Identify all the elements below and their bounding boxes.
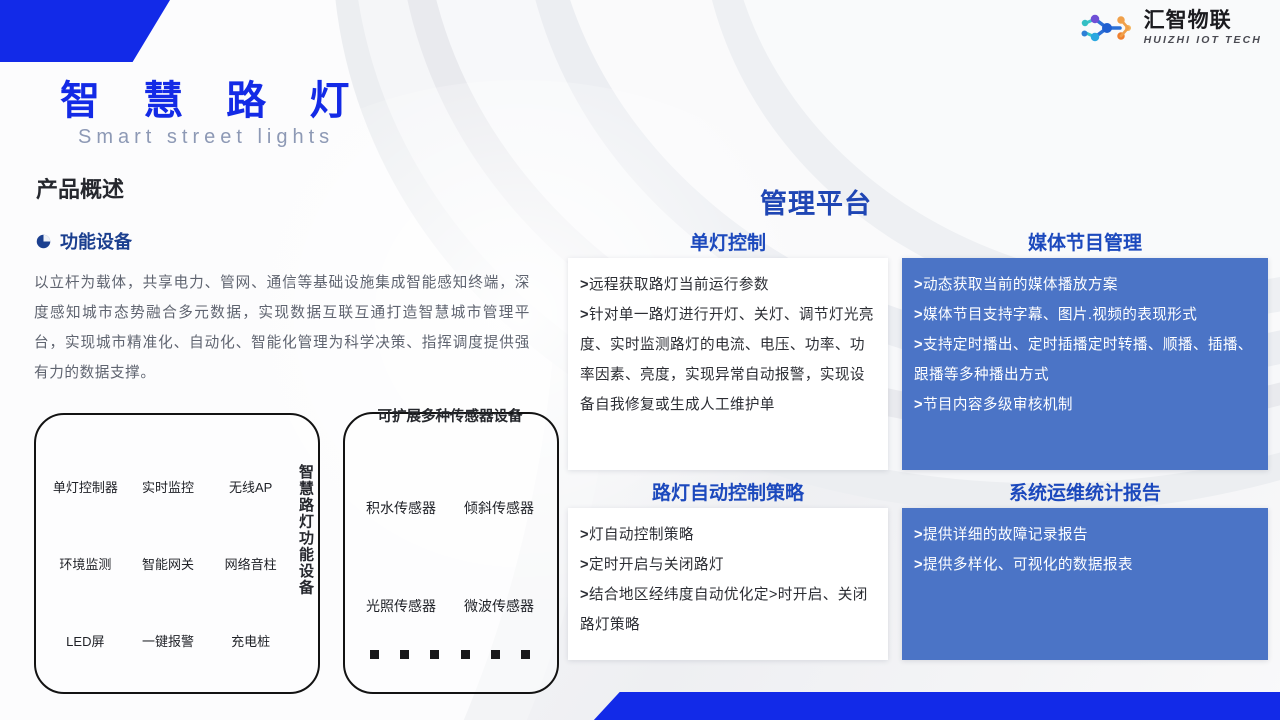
bullet-marker: > [580, 587, 589, 603]
page-title: 智 慧 路 灯 [60, 68, 365, 126]
card-bullet: >远程获取路灯当前运行参数 [580, 270, 878, 300]
sensor-dot [461, 650, 470, 659]
device-label: 无线AP [229, 477, 272, 496]
subsection-functional-devices: 功能设备 [36, 228, 132, 254]
bullet-marker: > [914, 337, 923, 353]
section-title-overview: 产品概述 [36, 172, 124, 204]
device-item: 实时监控 [127, 421, 210, 496]
card-bullet: >提供多样化、可视化的数据报表 [914, 550, 1258, 580]
device-label: 积水传感器 [366, 498, 436, 518]
card-heading-report: 系统运维统计报告 [902, 478, 1268, 505]
device-item: 智能网关 [127, 498, 210, 573]
bullet-marker: > [580, 307, 589, 323]
molecule-network-icon [1078, 8, 1136, 48]
device-item: 网络音柱 [209, 498, 292, 573]
device-item: 光照传感器 [352, 522, 450, 616]
subsection-label: 功能设备 [60, 228, 132, 254]
card-bullet: >节目内容多级审核机制 [914, 390, 1258, 420]
sensor-dot [491, 650, 500, 659]
bullet-marker: > [914, 527, 923, 543]
bullet-marker: > [914, 397, 923, 413]
device-label: 一键报警 [142, 631, 194, 650]
device-label: 环境监测 [59, 554, 111, 573]
card-bullet: >媒体节目支持字幕、图片.视频的表现形式 [914, 300, 1258, 330]
card-single-lamp: >远程获取路灯当前运行参数>针对单一路灯进行开灯、关灯、调节灯光亮度、实时监测路… [568, 258, 888, 470]
device-item: 单灯控制器 [44, 421, 127, 496]
brand-name-cn: 汇智物联 [1144, 10, 1262, 31]
card-media: >动态获取当前的媒体播放方案>媒体节目支持字幕、图片.视频的表现形式>支持定时播… [902, 258, 1268, 470]
card-auto-control: >灯自动控制策略>定时开启与关闭路灯>结合地区经纬度自动优化定>时开启、关闭路灯… [568, 508, 888, 660]
platform-title: 管理平台 [760, 182, 872, 221]
card-heading-single-lamp: 单灯控制 [568, 228, 888, 255]
bullet-marker: > [580, 527, 589, 543]
device-panel-sensors-title: 可扩展多种传感器设备 [352, 405, 548, 426]
device-label: 光照传感器 [366, 596, 436, 616]
device-label: 实时监控 [142, 477, 194, 496]
card-bullet: >结合地区经纬度自动优化定>时开启、关闭路灯策略 [580, 580, 878, 640]
bullet-marker: > [914, 557, 923, 573]
device-label: 单灯控制器 [53, 477, 118, 496]
device-label: LED屏 [66, 631, 104, 650]
brand-logo: 汇智物联 HUIZHI IOT TECH [1078, 8, 1262, 48]
card-bullet: >动态获取当前的媒体播放方案 [914, 270, 1258, 300]
device-label: 智能网关 [142, 554, 194, 573]
bullet-marker: > [914, 307, 923, 323]
card-bullet: >提供详细的故障记录报告 [914, 520, 1258, 550]
sensor-dot [400, 650, 409, 659]
device-item: LED屏 [44, 575, 127, 650]
device-item: 充电桩 [209, 575, 292, 650]
card-report: >提供详细的故障记录报告>提供多样化、可视化的数据报表 [902, 508, 1268, 660]
sensor-dot [430, 650, 439, 659]
device-label: 充电桩 [231, 631, 270, 650]
card-bullet: >灯自动控制策略 [580, 520, 878, 550]
pie-chart-icon [36, 234, 51, 249]
bullet-marker: > [914, 277, 923, 293]
card-bullet: >支持定时播出、定时插播定时转播、顺播、插播、跟播等多种播出方式 [914, 330, 1258, 390]
device-label: 网络音柱 [225, 554, 277, 573]
card-heading-auto-control: 路灯自动控制策略 [568, 478, 888, 505]
device-grid-sensors: 积水传感器倾斜传感器光照传感器微波传感器 [352, 424, 548, 616]
sensor-dot [370, 650, 379, 659]
slide-canvas: 汇智物联 HUIZHI IOT TECH 智 慧 路 灯 Smart stree… [0, 0, 1280, 720]
card-bullet: >针对单一路灯进行开灯、关灯、调节灯光亮度、实时监测路灯的电流、电压、功率、功率… [580, 300, 878, 420]
device-item: 无线AP [209, 421, 292, 496]
bullet-marker: > [580, 277, 589, 293]
device-grid-main: 单灯控制器实时监控无线AP环境监测智能网关网络音柱LED屏一键报警充电桩 [44, 421, 292, 650]
sensor-more-dots [370, 650, 530, 659]
device-item: 倾斜传感器 [450, 424, 548, 518]
device-panel-main-label: 智慧路灯功能设备 [294, 464, 316, 596]
sensor-dot [521, 650, 530, 659]
device-item: 环境监测 [44, 498, 127, 573]
device-label: 倾斜传感器 [464, 498, 534, 518]
brand-name-en: HUIZHI IOT TECH [1144, 35, 1262, 46]
device-item: 微波传感器 [450, 522, 548, 616]
device-item: 积水传感器 [352, 424, 450, 518]
device-item: 一键报警 [127, 575, 210, 650]
brand-logo-text: 汇智物联 HUIZHI IOT TECH [1144, 10, 1262, 46]
page-subtitle: Smart street lights [78, 126, 334, 149]
card-bullet: >定时开启与关闭路灯 [580, 550, 878, 580]
card-heading-media: 媒体节目管理 [902, 228, 1268, 255]
overview-body-text: 以立杆为载体，共享电力、管网、通信等基础设施集成智能感知终端，深度感知城市态势融… [34, 268, 530, 388]
bullet-marker: > [580, 557, 589, 573]
bottom-accent-bar [592, 692, 1280, 720]
device-label: 微波传感器 [464, 596, 534, 616]
